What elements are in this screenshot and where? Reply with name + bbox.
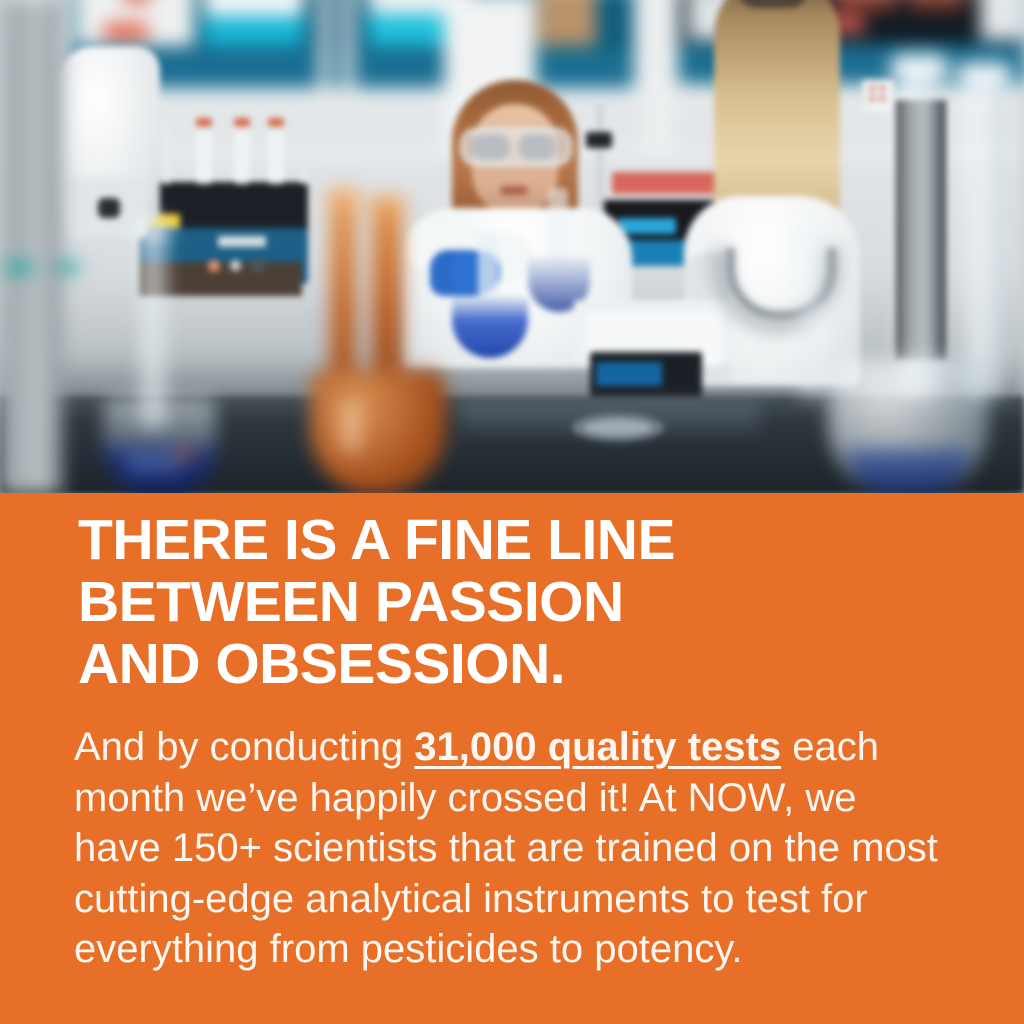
orange-message-panel: THERE IS A FINE LINE BETWEEN PASSION AND… [0, 493, 1024, 1024]
headline: THERE IS A FINE LINE BETWEEN PASSION AND… [78, 509, 978, 695]
teal-tape-marker-1 [4, 262, 34, 273]
flask-marking-orange [176, 450, 194, 460]
promo-card: 500 THERE IS A FINE LINE BETWEEN PASSION… [0, 0, 1024, 1024]
headline-line-1: THERE IS A FINE LINE [78, 509, 978, 571]
graduated-cylinder-2-top [956, 62, 1012, 88]
laboratory-photo: 500 [0, 0, 1024, 494]
graduated-cylinder-1-top [890, 54, 948, 82]
headline-line-3: AND OBSESSION. [78, 633, 978, 695]
body-paragraph: And by conducting 31,000 quality tests e… [74, 722, 954, 975]
graduated-cylinder-2 [962, 74, 1006, 396]
body-text-part-1: And by conducting [74, 725, 414, 769]
body-emphasis-quality-tests: 31,000 quality tests [414, 725, 781, 769]
graduated-cylinder-1 [896, 66, 942, 396]
door-frame-column [0, 0, 62, 494]
foreground-glass-rod [800, 230, 822, 398]
teal-tape-marker-2 [58, 262, 80, 273]
amber-flask-highlight [340, 400, 362, 454]
amber-column-2-cap [368, 196, 406, 214]
foreground-pipette-left-cap [136, 220, 170, 240]
amber-flask-body [310, 370, 446, 494]
headline-line-2: BETWEEN PASSION [78, 571, 978, 633]
photo-foreground-layer: 500 [0, 0, 1024, 494]
amber-column-1-cap [326, 188, 360, 206]
